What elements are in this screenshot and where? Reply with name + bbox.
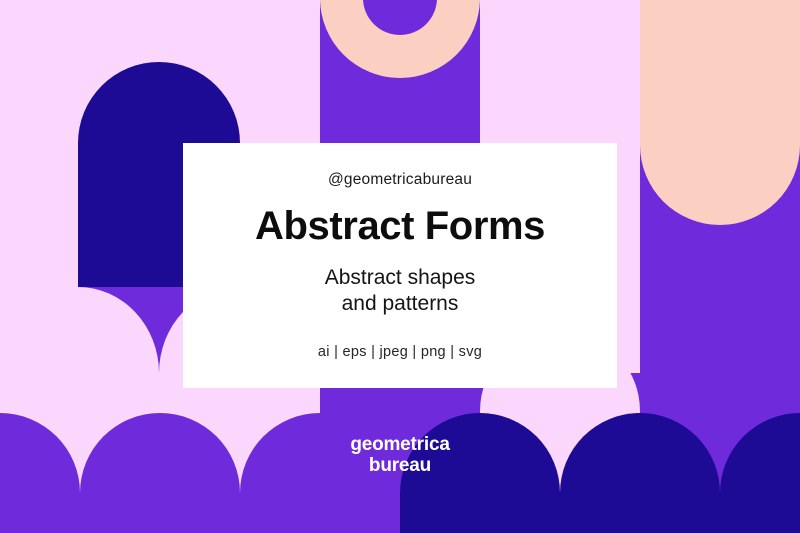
subtitle-line-2: and patterns [342,292,459,315]
bottom-arch-purple-2 [80,413,240,533]
peach-rounded-shape [640,0,800,225]
brand-logo-line-2: bureau [320,455,480,476]
subtitle-line-1: Abstract shapes [325,266,476,289]
info-card: @geometricabureau Abstract Forms Abstrac… [183,143,617,388]
file-formats-list: ai | eps | jpeg | png | svg [318,344,482,360]
social-handle: @geometricabureau [328,171,472,189]
brand-logo: geometrica bureau [320,434,480,477]
brand-logo-line-1: geometrica [320,434,480,455]
bottom-arch-purple-1 [0,413,80,533]
poster-canvas: @geometricabureau Abstract Forms Abstrac… [0,0,800,533]
page-title: Abstract Forms [255,205,545,247]
poster-subtitle: Abstract shapes and patterns [325,265,476,316]
